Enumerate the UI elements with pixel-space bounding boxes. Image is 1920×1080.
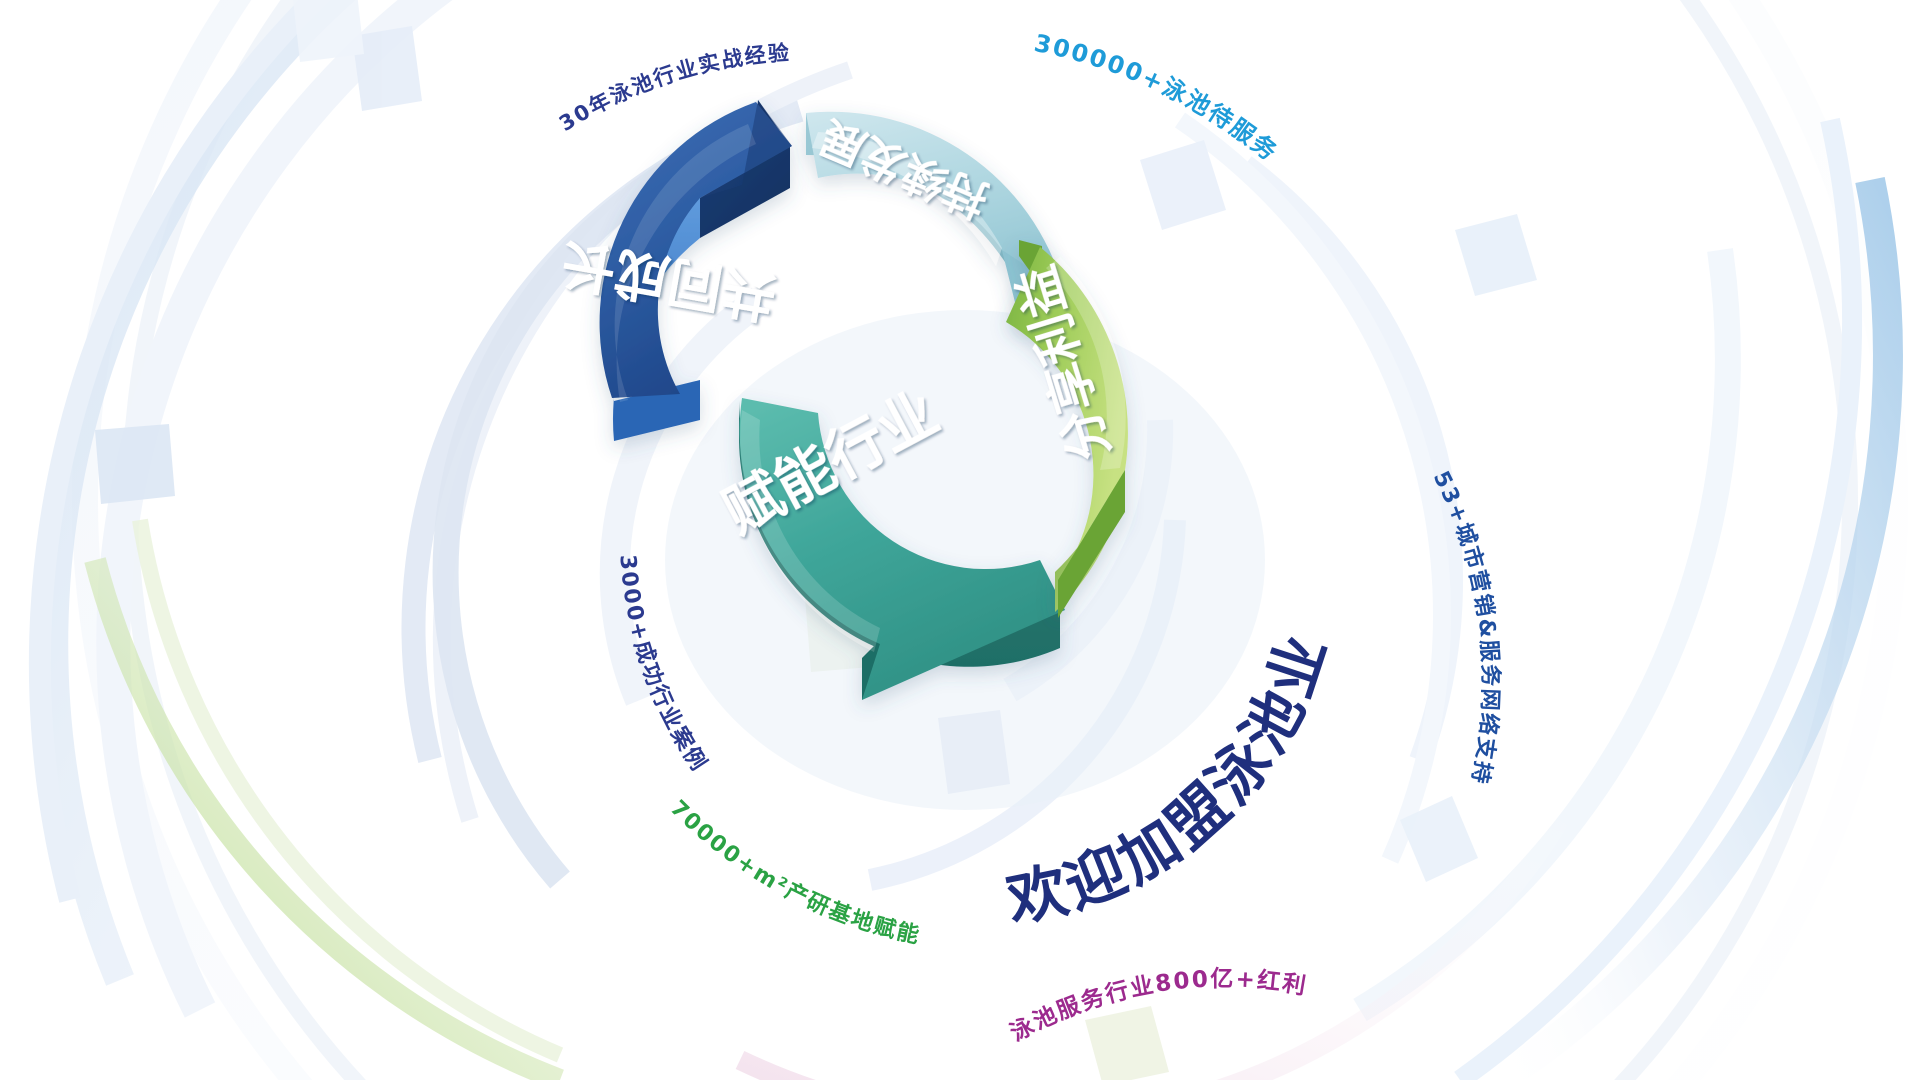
cta-headline: 欢迎加盟泳池业 (1000, 623, 1341, 936)
poster-canvas: 共同成长 持续发展 分享利益 赋能行业 30年泳池行业实战经验 300000+泳… (0, 0, 1920, 1080)
cta-headline-layer: 欢迎加盟泳池业 (0, 0, 1920, 1080)
